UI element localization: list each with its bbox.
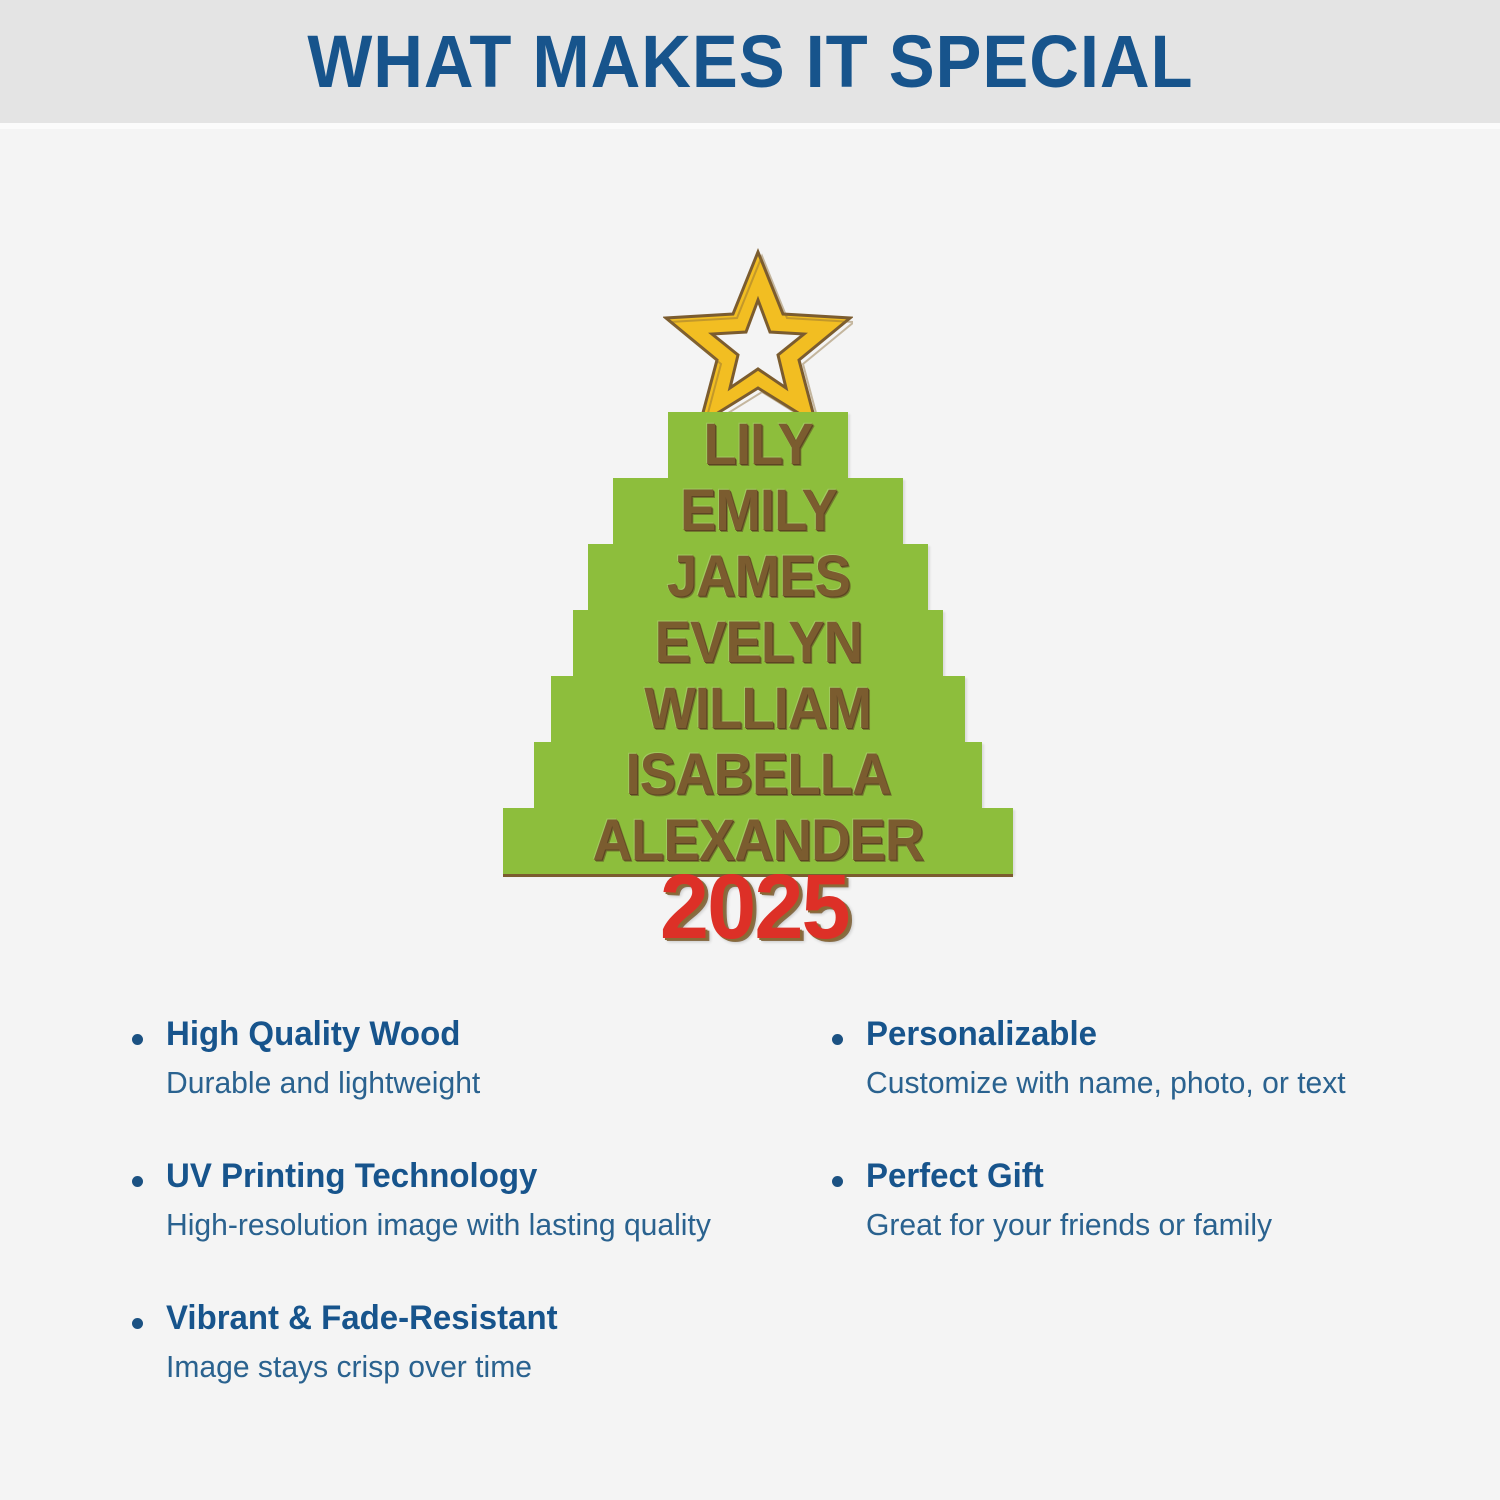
- bullet-icon: [832, 1176, 843, 1187]
- feature-item: Personalizable Customize with name, phot…: [828, 1012, 1468, 1106]
- name-text: ISABELLA: [625, 745, 890, 805]
- name-text: EMILY: [680, 481, 837, 541]
- feature-column-right: Personalizable Customize with name, phot…: [828, 1012, 1468, 1296]
- feature-item: High Quality Wood Durable and lightweigh…: [128, 1012, 828, 1106]
- year-text: 2025: [660, 862, 849, 952]
- name-text: EVELYN: [654, 613, 861, 673]
- name-tier: JAMES: [588, 544, 928, 610]
- feature-column-left: High Quality Wood Durable and lightweigh…: [128, 1012, 828, 1438]
- feature-item: UV Printing Technology High-resolution i…: [128, 1154, 828, 1248]
- feature-description: High-resolution image with lasting quali…: [166, 1202, 808, 1248]
- feature-description: Durable and lightweight: [166, 1060, 808, 1106]
- bullet-icon: [832, 1034, 843, 1045]
- bullet-icon: [132, 1034, 143, 1045]
- name-tier: LILY: [668, 412, 848, 478]
- feature-title: High Quality Wood: [166, 1012, 808, 1056]
- star-outline-icon: [663, 248, 853, 426]
- feature-item: Vibrant & Fade-Resistant Image stays cri…: [128, 1296, 828, 1390]
- header-band: WHAT MAKES IT SPECIAL: [0, 0, 1500, 123]
- feature-title: Personalizable: [866, 1012, 1450, 1056]
- feature-description: Image stays crisp over time: [166, 1344, 808, 1390]
- page-title: WHAT MAKES IT SPECIAL: [307, 25, 1193, 99]
- bullet-icon: [132, 1318, 143, 1329]
- feature-title: Vibrant & Fade-Resistant: [166, 1296, 808, 1340]
- feature-description: Customize with name, photo, or text: [866, 1060, 1450, 1106]
- name-text: WILLIAM: [645, 679, 872, 739]
- feature-list: High Quality Wood Durable and lightweigh…: [0, 1012, 1500, 1442]
- feature-description: Great for your friends or family: [866, 1202, 1450, 1248]
- name-tier: WILLIAM: [551, 676, 965, 742]
- year-plate: 2025: [620, 862, 888, 952]
- name-tier: ISABELLA: [534, 742, 982, 808]
- name-text: LILY: [703, 415, 812, 475]
- feature-item: Perfect Gift Great for your friends or f…: [828, 1154, 1468, 1248]
- name-tier: EVELYN: [573, 610, 943, 676]
- name-text: JAMES: [666, 547, 849, 607]
- feature-title: Perfect Gift: [866, 1154, 1450, 1198]
- bullet-icon: [132, 1176, 143, 1187]
- product-image-area: LILY EMILY JAMES EVELYN WILLIAM ISABELLA…: [0, 129, 1500, 1009]
- feature-title: UV Printing Technology: [166, 1154, 808, 1198]
- name-tier: EMILY: [613, 478, 903, 544]
- christmas-tree-ornament: LILY EMILY JAMES EVELYN WILLIAM ISABELLA…: [0, 129, 1500, 1009]
